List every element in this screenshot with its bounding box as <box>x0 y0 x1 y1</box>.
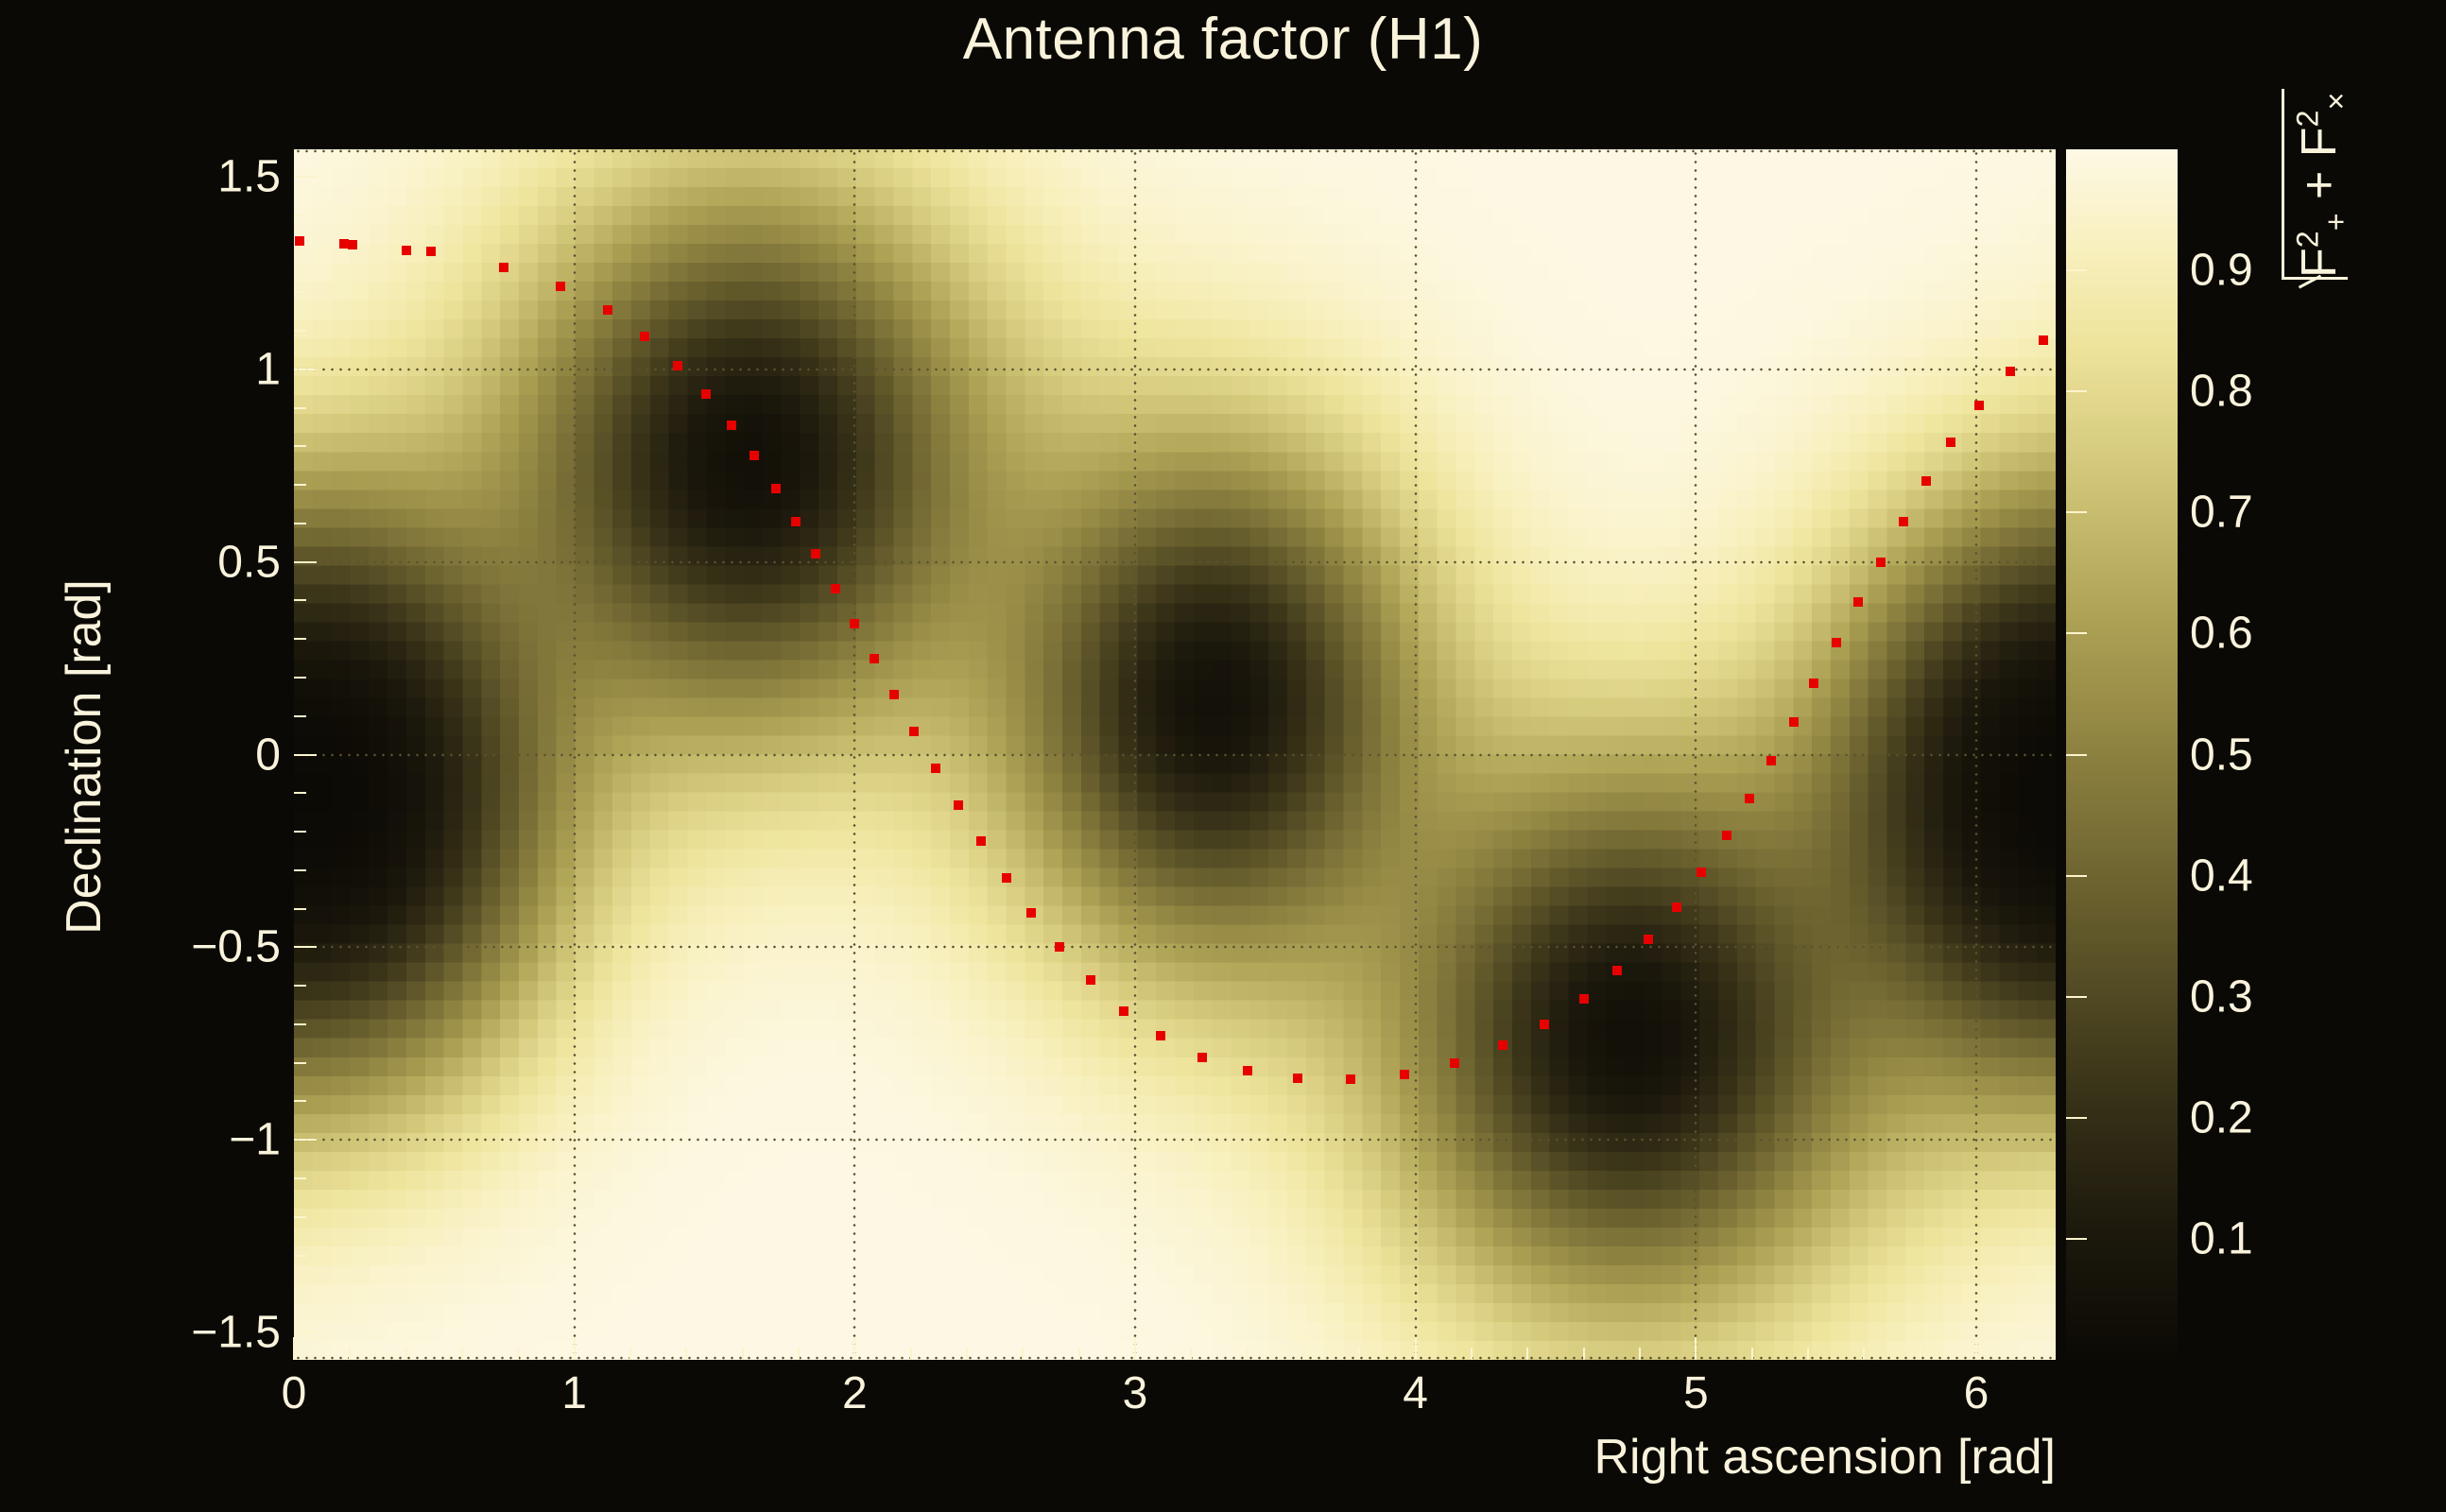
y-tick-label: −1 <box>229 1114 281 1166</box>
y-minor-tick <box>294 1255 306 1257</box>
x-minor-tick <box>461 1348 463 1360</box>
y-minor-tick <box>294 1100 306 1102</box>
x-minor-tick <box>1526 1348 1528 1360</box>
y-minor-tick <box>294 869 306 871</box>
y-tick-label: −0.5 <box>191 921 281 973</box>
x-minor-tick <box>405 1348 407 1360</box>
heatmap-plot-area[interactable] <box>294 149 2056 1360</box>
track-marker <box>1809 679 1818 688</box>
y-axis-title: Declination [rad] <box>55 152 113 1362</box>
track-marker <box>1400 1070 1409 1079</box>
track-marker <box>831 584 840 593</box>
track-marker <box>1055 942 1064 952</box>
track-marker <box>1722 831 1731 840</box>
track-marker <box>727 421 736 430</box>
track-marker <box>1612 966 1622 975</box>
track-marker <box>1498 1040 1507 1050</box>
track-marker <box>889 690 899 699</box>
colorbar-axis-title: F2+ + F2× <box>2295 93 2344 283</box>
y-minor-tick <box>294 677 306 679</box>
y-tick-label: 0.5 <box>217 536 281 588</box>
track-marker <box>909 727 919 736</box>
x-tick-label: 3 <box>1123 1367 1148 1419</box>
y-tick-label: 1 <box>255 343 281 395</box>
track-marker <box>1119 1006 1128 1016</box>
track-marker <box>1579 994 1589 1004</box>
y-minor-tick <box>294 215 306 216</box>
track-marker <box>1026 908 1036 918</box>
track-marker <box>1853 597 1863 607</box>
track-marker <box>1293 1074 1302 1083</box>
y-tick <box>294 561 317 563</box>
colorbar-tick-label: 0.5 <box>2190 729 2253 781</box>
track-marker <box>1697 868 1706 877</box>
track-marker <box>673 361 682 370</box>
x-minor-tick <box>1920 1348 1921 1360</box>
track-marker <box>1156 1031 1165 1040</box>
y-tick <box>294 1332 317 1333</box>
x-tick <box>1415 1337 1417 1360</box>
colorbar-tick-label: 0.3 <box>2190 971 2253 1022</box>
page-title: Antenna factor (H1) <box>0 6 2446 73</box>
f-plus-superscript: 2 <box>2291 231 2325 248</box>
colorbar-tick-label: 0.8 <box>2190 366 2253 418</box>
colorbar-tick <box>2066 1238 2087 1240</box>
track-marker <box>1974 401 1984 410</box>
track-marker <box>749 451 759 460</box>
y-minor-tick <box>294 985 306 987</box>
track-marker <box>426 247 436 256</box>
track-marker <box>1921 476 1931 486</box>
y-minor-tick <box>294 445 306 447</box>
x-tick-label: 6 <box>1964 1367 1990 1419</box>
x-tick <box>1975 1337 1977 1360</box>
track-marker <box>976 836 986 846</box>
x-minor-tick <box>1358 1348 1360 1360</box>
y-minor-tick <box>294 252 306 254</box>
track-marker <box>870 654 879 663</box>
root-canvas: Antenna factor (H1) Declination [rad] Ri… <box>0 0 2446 1512</box>
track-marker <box>1197 1053 1207 1062</box>
y-minor-tick <box>294 523 306 524</box>
track-marker <box>931 764 940 773</box>
colorbar-tick <box>2066 390 2087 392</box>
x-minor-tick <box>517 1348 519 1360</box>
y-minor-tick <box>294 715 306 717</box>
track-marker <box>1876 558 1886 567</box>
track-marker <box>1766 756 1776 765</box>
track-marker <box>402 246 411 255</box>
colorbar-tick-label: 0.6 <box>2190 608 2253 660</box>
colorbar-tick-label: 0.9 <box>2190 245 2253 297</box>
y-minor-tick <box>294 330 306 332</box>
track-marker <box>603 305 612 315</box>
x-tick-label: 2 <box>842 1367 868 1419</box>
y-minor-tick <box>294 908 306 910</box>
x-minor-tick <box>629 1348 631 1360</box>
colorbar-tick <box>2066 996 2087 998</box>
x-axis-title: Right ascension [rad] <box>294 1429 2056 1486</box>
y-minor-tick <box>294 1062 306 1064</box>
track-marker <box>556 282 565 291</box>
track-marker <box>954 800 963 810</box>
track-marker <box>2006 367 2015 376</box>
x-minor-tick <box>1302 1348 1304 1360</box>
x-minor-tick <box>1751 1348 1753 1360</box>
y-tick <box>294 369 317 370</box>
track-marker <box>1086 975 1095 985</box>
track-marker <box>811 549 820 558</box>
track-marker <box>1002 873 1011 883</box>
f-cross-superscript: 2 <box>2291 111 2325 128</box>
y-tick-label: 1.5 <box>217 150 281 202</box>
track-marker <box>1644 935 1653 944</box>
plus-operator: + <box>2292 157 2347 213</box>
f-plus-symbol: F <box>2292 248 2347 278</box>
y-minor-tick <box>294 638 306 640</box>
galactic-plane-track <box>294 149 2056 1360</box>
y-tick <box>294 754 317 756</box>
f-plus-subscript: + <box>2318 213 2352 231</box>
colorbar-tick-label: 0.1 <box>2190 1212 2253 1264</box>
y-minor-tick <box>294 1293 306 1295</box>
track-marker <box>701 389 711 399</box>
x-minor-tick <box>1190 1348 1192 1360</box>
y-minor-tick <box>294 1177 306 1179</box>
colorbar-tick <box>2066 875 2087 877</box>
track-marker <box>1832 638 1841 647</box>
track-marker <box>771 484 781 493</box>
y-minor-tick <box>294 599 306 601</box>
x-tick-label: 1 <box>561 1367 587 1419</box>
y-minor-tick <box>294 831 306 833</box>
x-tick <box>853 1337 855 1360</box>
track-marker <box>339 239 349 249</box>
track-marker <box>1450 1058 1459 1068</box>
x-tick <box>293 1337 295 1360</box>
track-marker <box>640 332 649 341</box>
x-minor-tick <box>685 1348 687 1360</box>
y-tick <box>294 1139 317 1141</box>
x-minor-tick <box>798 1348 800 1360</box>
x-minor-tick <box>1807 1348 1809 1360</box>
track-marker <box>1540 1020 1549 1029</box>
x-minor-tick <box>349 1348 351 1360</box>
y-minor-tick <box>294 484 306 486</box>
y-tick-label: −1.5 <box>191 1307 281 1359</box>
x-minor-tick <box>1247 1348 1249 1360</box>
y-minor-tick <box>294 792 306 794</box>
track-marker <box>348 240 357 249</box>
track-marker <box>791 517 801 526</box>
x-minor-tick <box>742 1348 744 1360</box>
track-marker <box>499 263 508 272</box>
y-minor-tick <box>294 1023 306 1025</box>
x-minor-tick <box>1022 1348 1024 1360</box>
x-tick-label: 0 <box>282 1367 307 1419</box>
track-marker <box>2039 335 2048 345</box>
f-cross-subscript: × <box>2318 93 2352 111</box>
colorbar-tick-label: 0.2 <box>2190 1091 2253 1143</box>
x-minor-tick <box>1639 1348 1641 1360</box>
track-marker <box>1789 717 1799 727</box>
track-marker <box>1946 438 1955 447</box>
track-marker <box>1672 902 1681 912</box>
x-tick <box>1695 1337 1697 1360</box>
x-tick <box>574 1337 576 1360</box>
colorbar-tick <box>2066 511 2087 513</box>
x-minor-tick <box>2031 1348 2033 1360</box>
x-tick-label: 4 <box>1403 1367 1428 1419</box>
colorbar-tick-label: 0.7 <box>2190 487 2253 539</box>
x-minor-tick <box>1583 1348 1585 1360</box>
colorbar-tick <box>2066 632 2087 634</box>
y-tick-label: 0 <box>255 729 281 781</box>
x-minor-tick <box>1863 1348 1865 1360</box>
colorbar-tick <box>2066 1117 2087 1119</box>
colorbar-tick-label: 0.4 <box>2190 850 2253 902</box>
colorbar-tick <box>2066 754 2087 756</box>
track-marker <box>295 236 304 246</box>
track-marker <box>1899 517 1908 526</box>
x-minor-tick <box>1078 1348 1080 1360</box>
track-marker <box>1243 1066 1252 1075</box>
x-minor-tick <box>1471 1348 1473 1360</box>
track-marker <box>850 619 859 628</box>
y-tick <box>294 946 317 948</box>
colorbar-tick <box>2066 269 2087 271</box>
f-cross-symbol: F <box>2292 127 2347 157</box>
y-minor-tick <box>294 291 306 293</box>
y-minor-tick <box>294 1216 306 1218</box>
y-tick <box>294 176 317 178</box>
x-minor-tick <box>910 1348 912 1360</box>
x-minor-tick <box>966 1348 968 1360</box>
track-marker <box>1346 1074 1355 1084</box>
x-tick-label: 5 <box>1683 1367 1709 1419</box>
track-marker <box>1745 794 1754 803</box>
y-minor-tick <box>294 407 306 409</box>
x-tick <box>1134 1337 1136 1360</box>
